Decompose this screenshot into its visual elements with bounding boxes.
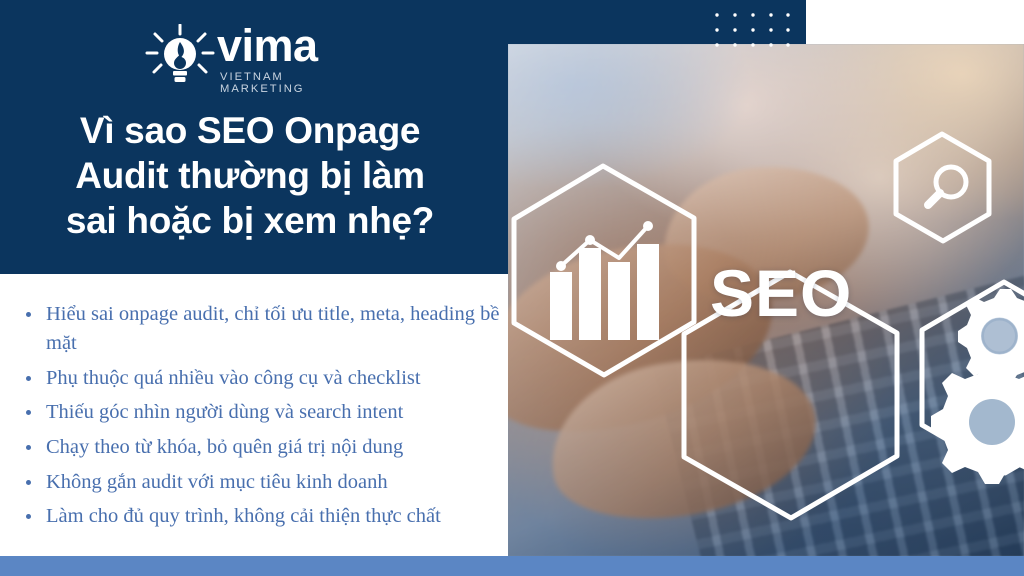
list-item: Không gắn audit với mục tiêu kinh doanh — [18, 468, 518, 497]
logo-name: vima — [217, 25, 370, 68]
logo-wordmark: vima VIETNAM MARKETING — [217, 22, 370, 94]
page-title-line-2: Audit thường bị làm — [0, 153, 500, 198]
list-item: Chạy theo từ khóa, bỏ quên giá trị nội d… — [18, 433, 518, 462]
page-title-line-3: sai hoặc bị xem nhẹ? — [0, 198, 500, 243]
bar-chart-growth-icon — [550, 221, 659, 340]
bottom-accent-bar — [0, 556, 1024, 576]
brand-logo: vima VIETNAM MARKETING — [145, 24, 370, 92]
hexagon-outline-chart — [514, 166, 694, 375]
lightbulb-idea-icon — [145, 24, 215, 92]
list-item: Hiểu sai onpage audit, chỉ tối ưu title,… — [18, 300, 518, 358]
reasons-list: Hiểu sai onpage audit, chỉ tối ưu title,… — [18, 300, 518, 537]
page-title-line-1: Vì sao SEO Onpage — [0, 108, 500, 153]
list-item: Thiếu góc nhìn người dùng và search inte… — [18, 398, 518, 427]
hexagon-outline-search — [896, 134, 989, 241]
logo-tagline: VIETNAM MARKETING — [217, 71, 370, 95]
seo-overlay-text: SEO — [710, 260, 852, 326]
hands-typing-laptop-photo: SEO — [508, 44, 1024, 556]
gear-large-icon — [931, 362, 1024, 484]
magnifier-search-icon — [928, 167, 966, 205]
slide-canvas: SEO vima V — [0, 0, 1024, 576]
list-item: Làm cho đủ quy trình, không cải thiện th… — [18, 502, 518, 531]
dot-grid-decoration — [714, 12, 790, 48]
page-title: Vì sao SEO Onpage Audit thường bị làm sa… — [0, 108, 500, 243]
list-item: Phụ thuộc quá nhiều vào công cụ và check… — [18, 364, 518, 393]
